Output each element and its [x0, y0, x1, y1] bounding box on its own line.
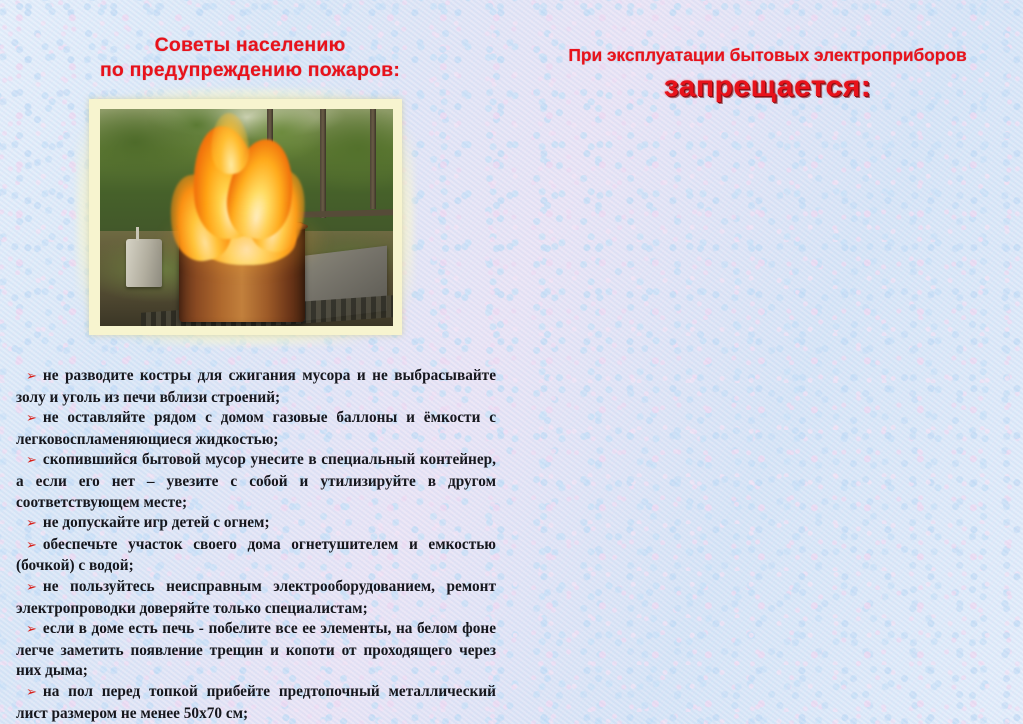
- list-item: ➢не разводите костры для сжигания мусора…: [16, 366, 496, 408]
- photo-watering-can: [126, 239, 161, 287]
- right-title-line-2: запрещается:: [520, 69, 1015, 105]
- list-item: ➢не оставляйте рядом с домом газовые бал…: [16, 408, 496, 450]
- list-item: ➢обеспечьте участок своего дома огнетуши…: [16, 535, 496, 577]
- list-item: ➢не пользуйтесь неисправным электрообору…: [16, 577, 496, 619]
- list-item-text: обеспечьте участок своего дома огнетушит…: [16, 536, 496, 575]
- photo-fence-post: [370, 109, 376, 209]
- left-column: Советы населению по предупреждению пожар…: [0, 0, 512, 724]
- list-item: ➢на пол перед топкой прибейте предтопочн…: [16, 682, 496, 724]
- arrow-bullet-icon: ➢: [26, 538, 43, 553]
- arrow-bullet-icon: ➢: [26, 622, 43, 637]
- arrow-bullet-icon: ➢: [26, 685, 43, 700]
- list-item-text: на пол перед топкой прибейте предтопочны…: [16, 683, 496, 722]
- fire-in-barrel-photo: [100, 109, 393, 326]
- left-title-line-1: Советы населению: [0, 33, 500, 58]
- arrow-bullet-icon: ➢: [26, 516, 43, 531]
- list-item: ➢скопившийся бытовой мусор унесите в спе…: [16, 450, 496, 513]
- right-title-line-1: При эксплуатации бытовых электроприборов: [520, 44, 1015, 66]
- left-title-line-2: по предупреждению пожаров:: [0, 58, 500, 83]
- list-item-text: не оставляйте рядом с домом газовые балл…: [16, 409, 496, 448]
- list-item: ➢если в доме есть печь - побелите все ее…: [16, 619, 496, 682]
- list-item-text: скопившийся бытовой мусор унесите в спец…: [16, 451, 496, 510]
- fire-photo-frame: [89, 99, 402, 335]
- photo-fire-glow: [159, 204, 329, 278]
- list-item: ➢не допускайте игр детей с огнем;: [16, 513, 496, 535]
- list-item-text: не допускайте игр детей с огнем;: [43, 514, 270, 531]
- photo-fence-post: [320, 109, 326, 218]
- arrow-bullet-icon: ➢: [26, 411, 43, 426]
- arrow-bullet-icon: ➢: [26, 453, 43, 468]
- right-column: При эксплуатации бытовых электроприборов…: [512, 0, 1023, 724]
- list-item-text: не разводите костры для сжигания мусора …: [16, 367, 496, 406]
- left-bullet-list: ➢не разводите костры для сжигания мусора…: [16, 366, 496, 724]
- arrow-bullet-icon: ➢: [26, 580, 43, 595]
- left-column-title: Советы населению по предупреждению пожар…: [0, 33, 500, 83]
- brochure-page: Советы населению по предупреждению пожар…: [0, 0, 1023, 724]
- list-item-text: не пользуйтесь неисправным электрооборуд…: [16, 578, 496, 617]
- fire-photo-figure: [89, 99, 402, 335]
- list-item-text: если в доме есть печь - побелите все ее …: [16, 620, 496, 679]
- arrow-bullet-icon: ➢: [26, 369, 43, 384]
